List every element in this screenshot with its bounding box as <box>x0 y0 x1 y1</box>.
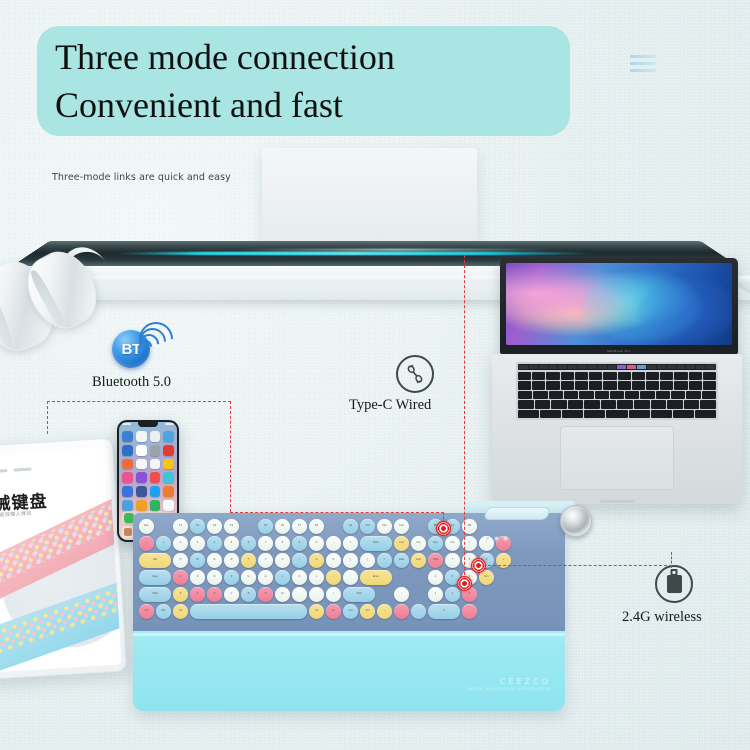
laptop-touchbar[interactable] <box>518 364 716 370</box>
bluetooth-dash-mid <box>230 401 231 512</box>
keyboard-key[interactable]: 7 <box>445 553 460 568</box>
keyboard-key[interactable]: 1 <box>156 536 171 551</box>
app-icon[interactable] <box>150 431 161 442</box>
laptop-key[interactable] <box>689 381 702 389</box>
keyboard-key-spacer <box>496 519 511 534</box>
keyboard-key[interactable]: U <box>275 553 290 568</box>
keyboard-key[interactable]: Win <box>156 604 171 619</box>
laptop-key[interactable] <box>546 381 559 389</box>
app-icon[interactable] <box>122 472 133 483</box>
laptop-key[interactable] <box>629 410 650 418</box>
laptop-key[interactable] <box>673 410 694 418</box>
keyboard-key[interactable]: L <box>309 570 324 585</box>
keyboard-key-spacer <box>156 519 171 534</box>
laptop-key[interactable] <box>589 381 602 389</box>
volume-knob[interactable] <box>560 505 592 537</box>
app-icon[interactable] <box>150 459 161 470</box>
keyboard-key[interactable]: Ctrl <box>360 604 375 619</box>
laptop-key[interactable] <box>595 391 609 399</box>
keyboard-key[interactable]: R <box>224 553 239 568</box>
keyboard-key[interactable]: Fn <box>326 604 341 619</box>
keyboard-key[interactable]: F3 <box>207 519 222 534</box>
laptop-key[interactable] <box>646 372 659 380</box>
keyboard-key[interactable]: O <box>309 553 324 568</box>
laptop-key[interactable] <box>656 391 670 399</box>
wireless-dash-horizontal <box>478 565 672 566</box>
app-icon[interactable] <box>122 431 133 442</box>
app-icon[interactable] <box>163 445 174 456</box>
keyboard-key[interactable]: PgU <box>428 536 443 551</box>
usb-dongle-icon <box>655 565 693 603</box>
typec-target <box>457 576 472 591</box>
laptop-brand-label: MacBook Pro <box>500 349 738 353</box>
bluetooth-signal-waves <box>139 322 169 354</box>
keyboard-key-spacer <box>479 519 494 534</box>
laptop-key[interactable] <box>674 381 687 389</box>
laptop-key[interactable] <box>551 400 567 408</box>
keyboard-key[interactable]: Esc <box>139 519 154 534</box>
keyboard-key[interactable]: ↓ <box>394 604 409 619</box>
keyboard-key[interactable]: ~ <box>139 536 154 551</box>
keyboard-key[interactable]: F6 <box>275 519 290 534</box>
keyboard-key[interactable]: / <box>326 587 341 602</box>
keyboard-key[interactable]: 9 <box>292 536 307 551</box>
laptop-key[interactable] <box>562 410 583 418</box>
keyboard-phone-slot <box>483 507 551 520</box>
keyboard-key[interactable]: Inst <box>394 536 409 551</box>
keyboard-row: CtrlWinAltAltFnCtrlCtrl←↓→0. <box>139 604 559 619</box>
bluetooth-dash-bottom <box>230 512 444 513</box>
keyboard-key[interactable]: Shift <box>343 587 375 602</box>
keyboard-key[interactable]: ' <box>343 570 358 585</box>
hamburger-menu-icon[interactable] <box>630 55 656 72</box>
app-icon[interactable] <box>136 486 147 497</box>
laptop-key[interactable] <box>603 381 616 389</box>
keyboard-key[interactable]: Caps <box>139 570 171 585</box>
keyboard-key[interactable]: Alt <box>173 604 188 619</box>
laptop-key[interactable] <box>674 372 687 380</box>
laptop-key[interactable] <box>703 381 716 389</box>
app-icon[interactable] <box>163 500 174 511</box>
keyboard-key[interactable]: N <box>258 587 273 602</box>
app-icon[interactable] <box>163 486 174 497</box>
laptop-device: MacBook Pro <box>492 258 742 508</box>
laptop-key[interactable] <box>518 381 531 389</box>
keyboard-key-spacer <box>241 519 256 534</box>
keyboard-key[interactable]: F7 <box>292 519 307 534</box>
keyboard-key-spacer <box>326 519 341 534</box>
laptop-key[interactable] <box>632 381 645 389</box>
laptop-key[interactable] <box>518 372 531 380</box>
laptop-key[interactable] <box>686 391 700 399</box>
keyboard-key[interactable]: , <box>292 587 307 602</box>
app-icon[interactable] <box>136 459 147 470</box>
keyboard-key[interactable]: F9 <box>343 519 358 534</box>
keyboard-key[interactable]: C <box>207 587 222 602</box>
keyboard-key[interactable]: F4 <box>224 519 239 534</box>
keyboard-key-spacer <box>513 519 528 534</box>
headline-line-1: Three mode connection <box>55 34 560 82</box>
bluetooth-dash-left <box>47 401 48 434</box>
keyboard-key[interactable] <box>190 604 307 619</box>
keyboard-row: CapsASDFGHJKL;'Enter456Ent <box>139 570 559 585</box>
keyboard-key[interactable]: End <box>411 553 426 568</box>
keyboard-key[interactable]: 0 <box>428 604 460 619</box>
laptop-key[interactable] <box>660 381 673 389</box>
keyboard-key[interactable]: 6 <box>241 536 256 551</box>
laptop-key[interactable] <box>532 372 545 380</box>
laptop-key[interactable] <box>610 391 624 399</box>
laptop-key[interactable] <box>540 410 561 418</box>
keyboard-key[interactable]: F8 <box>309 519 324 534</box>
laptop-key[interactable] <box>625 391 639 399</box>
page-subtitle: Three-mode links are quick and easy <box>52 172 231 183</box>
laptop-key[interactable] <box>695 410 716 418</box>
keyboard-key[interactable]: 2 <box>173 536 188 551</box>
laptop-key[interactable] <box>667 400 683 408</box>
keyboard-key[interactable]: T <box>241 553 256 568</box>
keyboard-key[interactable]: D <box>207 570 222 585</box>
keyboard-key[interactable]: . <box>309 587 324 602</box>
keyboard-key[interactable]: - <box>326 536 341 551</box>
laptop-key[interactable] <box>700 400 716 408</box>
bluetooth-dash-top <box>47 401 231 402</box>
keyboard-key[interactable]: K <box>292 570 307 585</box>
keyboard-key[interactable]: ] <box>360 553 375 568</box>
app-icon[interactable] <box>163 459 174 470</box>
tablet-screen: 机械键盘 舒适手感 高效输入体验 <box>0 447 122 673</box>
keyboard-key[interactable]: 1 <box>428 587 443 602</box>
bluetooth-label: Bluetooth 5.0 <box>92 374 171 391</box>
bluetooth-icon: BT <box>112 322 164 368</box>
headline-panel: Three mode connection Convenient and fas… <box>37 26 570 136</box>
keyboard-key[interactable]: PgD <box>428 553 443 568</box>
laptop-key[interactable] <box>606 410 627 418</box>
laptop-key[interactable] <box>703 372 716 380</box>
keyboard-key[interactable]: W <box>190 553 205 568</box>
keyboard-key[interactable]: 4 <box>428 570 443 585</box>
app-icon[interactable] <box>124 513 134 523</box>
laptop-key[interactable] <box>634 400 650 408</box>
laptop-key[interactable] <box>564 391 578 399</box>
laptop-lip-notch <box>600 500 634 503</box>
keyboard-row: EscF1F2F3F4F5F6F7F8F9F10F11F12BT2.4PB <box>139 519 559 534</box>
keyboard-key[interactable]: F10 <box>360 519 375 534</box>
keyboard-key[interactable]: M <box>275 587 290 602</box>
keyboard-key[interactable]: I <box>292 553 307 568</box>
keyboard-key[interactable]: 5 <box>224 536 239 551</box>
keyboard-key[interactable]: Dele <box>394 553 409 568</box>
typec-label: Type-C Wired <box>349 397 431 414</box>
product-infographic: 机械键盘 舒适手感 高效输入体验 <box>0 0 750 750</box>
wireless-label: 2.4G wireless <box>622 609 702 626</box>
keyboard-key[interactable]: Ctrl <box>139 604 154 619</box>
keyboard-key[interactable]: Hm <box>411 536 426 551</box>
monitor-screen-highlight <box>239 249 552 251</box>
app-icon[interactable] <box>122 445 133 456</box>
laptop-keyboard[interactable] <box>516 362 718 420</box>
laptop-screen <box>506 263 732 345</box>
keyboard-key[interactable]: 7 <box>258 536 273 551</box>
usb-c-cable-glyph <box>405 364 425 384</box>
keyboard-key[interactable]: Nm <box>445 536 460 551</box>
keyboard-key[interactable]: = <box>343 536 358 551</box>
keyboard-key[interactable]: J <box>275 570 290 585</box>
keyboard-key[interactable]: Q <box>173 553 188 568</box>
phone-app-grid <box>122 431 174 511</box>
keyboard-key-spacer <box>394 570 409 585</box>
keyboard-palm-rest: CEEZCO better appearance individuation <box>133 631 565 711</box>
keyboard-key[interactable]: P <box>326 553 341 568</box>
laptop-base <box>492 354 742 504</box>
keyboard-key-spacer <box>377 587 392 602</box>
app-icon[interactable] <box>136 472 147 483</box>
keyboard-key-spacer <box>411 519 426 534</box>
laptop-key[interactable] <box>617 400 633 408</box>
keyboard-key[interactable]: H <box>258 570 273 585</box>
keyboard-key[interactable]: 0 <box>309 536 324 551</box>
keyboard-key-spacer <box>530 519 545 534</box>
laptop-key[interactable] <box>646 381 659 389</box>
laptop-key[interactable] <box>684 400 700 408</box>
app-icon[interactable] <box>150 445 161 456</box>
keyboard-status-leds <box>486 537 507 540</box>
laptop-key[interactable] <box>546 372 559 380</box>
laptop-key[interactable] <box>601 400 617 408</box>
laptop-key[interactable] <box>589 372 602 380</box>
wireless-target <box>471 558 486 573</box>
laptop-key[interactable] <box>618 372 631 380</box>
laptop-key-row <box>518 372 716 380</box>
headline-line-2: Convenient and fast <box>55 82 560 130</box>
laptop-key[interactable] <box>549 391 563 399</box>
keyboard-key[interactable]: Shift <box>139 587 171 602</box>
keyboard-deck: EscF1F2F3F4F5F6F7F8F9F10F11F12BT2.4PB~12… <box>133 513 565 631</box>
laptop-key-row <box>518 381 716 389</box>
monitor-screen-glow <box>111 251 597 255</box>
keyboard-key[interactable]: Alt <box>309 604 324 619</box>
keyboard-key[interactable]: F5 <box>258 519 273 534</box>
keyboard-key[interactable]: B <box>241 587 256 602</box>
laptop-key[interactable] <box>575 381 588 389</box>
keyboard-key[interactable]: ← <box>377 604 392 619</box>
app-icon[interactable] <box>150 472 161 483</box>
laptop-key[interactable] <box>561 381 574 389</box>
app-icon[interactable] <box>122 459 133 470</box>
app-icon[interactable] <box>150 486 161 497</box>
laptop-key[interactable] <box>632 372 645 380</box>
laptop-key-row <box>518 391 716 399</box>
phone-notch <box>138 422 158 427</box>
laptop-key-row <box>518 410 716 418</box>
keyboard-key[interactable]: F1 <box>173 519 188 534</box>
laptop-key[interactable] <box>561 372 574 380</box>
usb-dongle-glyph <box>667 575 682 593</box>
laptop-key[interactable] <box>518 410 539 418</box>
laptop-key-row <box>518 400 716 408</box>
keyboard-key[interactable]: F12 <box>394 519 409 534</box>
keyboard-key[interactable]: A <box>173 570 188 585</box>
keyboard-key[interactable]: Z <box>173 587 188 602</box>
laptop-lid: MacBook Pro <box>500 258 738 354</box>
keyboard-row: ShiftZXCVBNM,./Shift↑123 <box>139 587 559 602</box>
laptop-key[interactable] <box>640 391 654 399</box>
laptop-key[interactable] <box>584 410 605 418</box>
laptop-key[interactable] <box>584 400 600 408</box>
keyboard-key[interactable]: 4 <box>207 536 222 551</box>
app-icon[interactable] <box>136 500 147 511</box>
keyboard-brand-name: CEEZCO <box>468 677 551 686</box>
laptop-key[interactable] <box>518 391 532 399</box>
keyboard-key[interactable]: 2 <box>445 587 460 602</box>
laptop-key[interactable] <box>702 391 716 399</box>
app-icon[interactable] <box>136 431 147 442</box>
laptop-key[interactable] <box>518 400 534 408</box>
laptop-key[interactable] <box>671 391 685 399</box>
keyboard-key[interactable]: F2 <box>190 519 205 534</box>
keyboard-key[interactable]: F <box>224 570 239 585</box>
app-icon[interactable] <box>163 431 174 442</box>
laptop-key-rows <box>518 372 716 418</box>
keyboard-key[interactable]: 8 <box>275 536 290 551</box>
laptop-key[interactable] <box>603 372 616 380</box>
app-icon[interactable] <box>163 472 174 483</box>
mechanical-keyboard: EscF1F2F3F4F5F6F7F8F9F10F11F12BT2.4PB~12… <box>133 513 565 711</box>
typec-dash-vertical <box>464 255 465 575</box>
keyboard-key[interactable]: → <box>411 604 426 619</box>
keyboard-key[interactable]: ↑ <box>394 587 409 602</box>
app-icon[interactable] <box>136 445 147 456</box>
keyboard-key-spacer <box>411 570 426 585</box>
keyboard-key[interactable]: S <box>190 570 205 585</box>
keyboard-key[interactable]: F11 <box>377 519 392 534</box>
app-icon[interactable] <box>122 500 133 511</box>
keyboard-key[interactable]: 3 <box>190 536 205 551</box>
keyboard-key[interactable]: G <box>241 570 256 585</box>
keyboard-key[interactable]: Tab <box>139 553 171 568</box>
laptop-key[interactable] <box>651 400 667 408</box>
keyboard-brand-tagline: better appearance individuation <box>468 686 551 691</box>
laptop-key[interactable] <box>532 381 545 389</box>
keyboard-key[interactable]: . <box>462 604 477 619</box>
laptop-trackpad[interactable] <box>560 426 674 490</box>
laptop-key[interactable] <box>618 381 631 389</box>
keyboard-branding: CEEZCO better appearance individuation <box>468 677 551 691</box>
keyboard-key[interactable]: Ctrl <box>343 604 358 619</box>
keyboard-key[interactable]: ; <box>326 570 341 585</box>
keyboard-key-rows: EscF1F2F3F4F5F6F7F8F9F10F11F12BT2.4PB~12… <box>139 519 559 625</box>
laptop-key[interactable] <box>651 410 672 418</box>
keyboard-key-spacer <box>411 587 426 602</box>
bluetooth-target <box>436 521 451 536</box>
keyboard-key[interactable]: E <box>207 553 222 568</box>
laptop-key[interactable] <box>689 372 702 380</box>
laptop-key[interactable] <box>579 391 593 399</box>
laptop-key[interactable] <box>575 372 588 380</box>
keyboard-key[interactable]: Back <box>360 536 392 551</box>
keyboard-key[interactable]: Enter <box>360 570 392 585</box>
laptop-key[interactable] <box>535 400 551 408</box>
keyboard-key[interactable]: [ <box>343 553 358 568</box>
keyboard-key[interactable]: Y <box>258 553 273 568</box>
keyboard-key[interactable]: X <box>190 587 205 602</box>
tablet-product-subtitle: 舒适手感 高效输入体验 <box>0 510 32 520</box>
tablet-device: 机械键盘 舒适手感 高效输入体验 <box>0 438 127 681</box>
keyboard-key[interactable]: \ <box>377 553 392 568</box>
keyboard-key[interactable]: V <box>224 587 239 602</box>
usb-c-cable-icon <box>396 355 434 393</box>
app-icon[interactable] <box>150 500 161 511</box>
laptop-key[interactable] <box>568 400 584 408</box>
app-icon[interactable] <box>122 486 133 497</box>
page-title: Three mode connection Convenient and fas… <box>55 34 560 130</box>
laptop-key[interactable] <box>533 391 547 399</box>
laptop-key[interactable] <box>660 372 673 380</box>
